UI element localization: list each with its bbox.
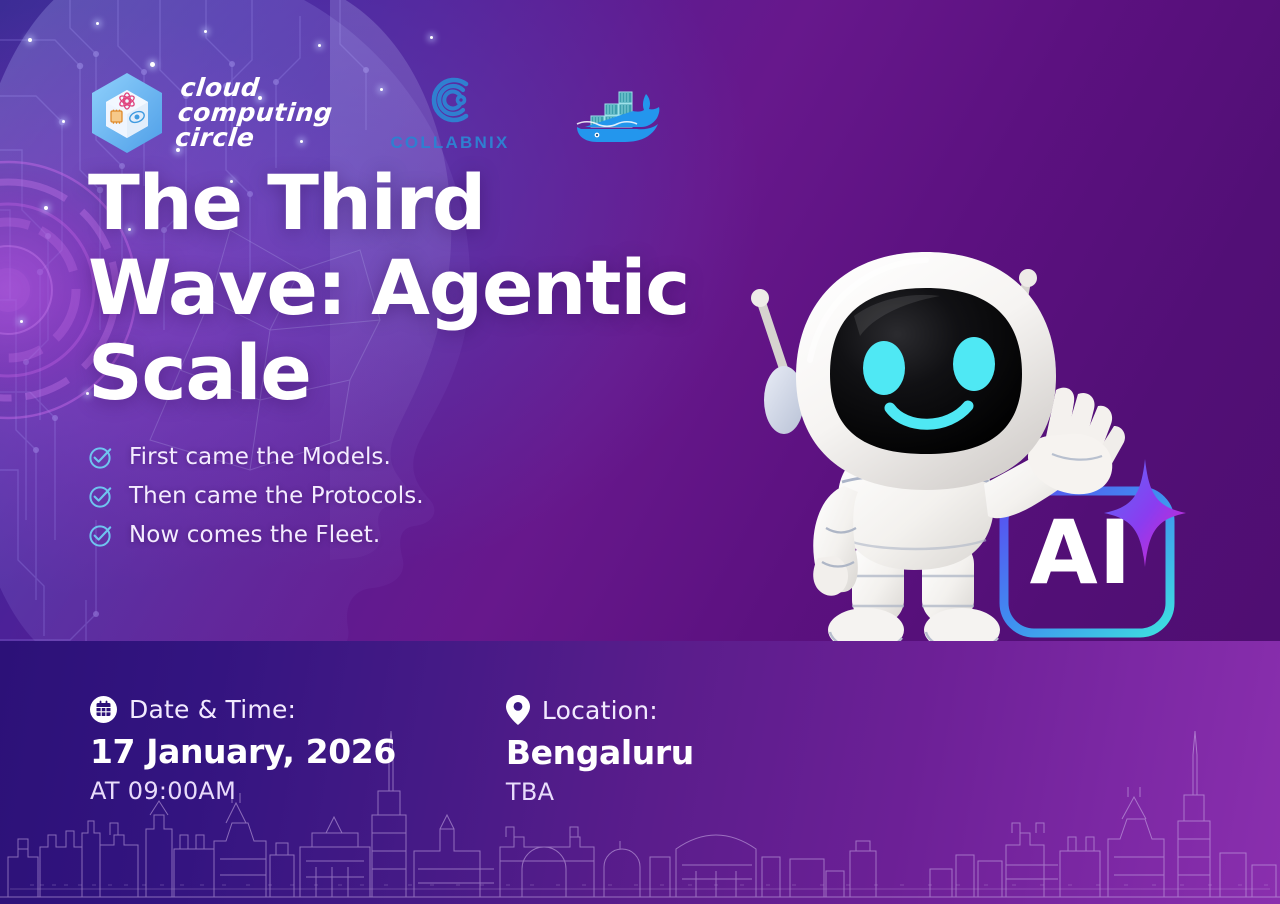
bullet-label: Now comes the Fleet. (129, 522, 380, 548)
logo-row: cloud computing circle COLLABNIX (90, 72, 667, 154)
page-title: The Third Wave: Agentic Scale (88, 160, 728, 415)
title-line-3: Scale (88, 330, 728, 415)
footer-band: Date & Time: 17 January, 2026 AT 09:00AM… (0, 641, 1280, 904)
location-city: Bengaluru (506, 733, 806, 772)
date-time-header: Date & Time: (90, 695, 396, 724)
title-line-2: Wave: Agentic (88, 245, 728, 330)
check-circle-icon (88, 444, 114, 470)
event-poster: cloud computing circle COLLABNIX (0, 0, 1280, 904)
title-line-1: The Third (88, 160, 728, 245)
collabnix-logo[interactable]: COLLABNIX (390, 74, 509, 153)
bullet-label: Then came the Protocols. (129, 483, 424, 509)
date-time-label: Date & Time: (129, 695, 296, 724)
list-item: Now comes the Fleet. (88, 522, 424, 548)
hexagon-cube-icon (90, 72, 164, 154)
location-venue: TBA (506, 778, 806, 806)
docker-whale-icon (563, 80, 667, 146)
list-item: Then came the Protocols. (88, 483, 424, 509)
list-item: First came the Models. (88, 444, 424, 470)
event-date: 17 January, 2026 (90, 732, 396, 771)
cloud-computing-circle-logo[interactable]: cloud computing circle (90, 72, 332, 154)
check-circle-icon (88, 522, 114, 548)
location-header: Location: (506, 695, 806, 725)
collabnix-c-icon (416, 74, 484, 130)
bullet-list: First came the Models. Then came the Pro… (88, 444, 424, 548)
location-block: Location: Bengaluru TBA (506, 695, 806, 806)
ai-robot-mascot (726, 240, 1126, 660)
map-pin-icon (506, 695, 530, 725)
event-info: Date & Time: 17 January, 2026 AT 09:00AM… (90, 695, 806, 806)
ccc-wordmark: cloud computing circle (174, 76, 336, 150)
bullet-label: First came the Models. (129, 444, 391, 470)
check-circle-icon (88, 483, 114, 509)
collabnix-wordmark: COLLABNIX (390, 133, 509, 153)
event-time: AT 09:00AM (90, 777, 396, 805)
docker-whale-logo[interactable] (563, 80, 667, 146)
location-label: Location: (542, 696, 658, 725)
date-time-block: Date & Time: 17 January, 2026 AT 09:00AM (90, 695, 396, 806)
calendar-icon (90, 696, 117, 723)
